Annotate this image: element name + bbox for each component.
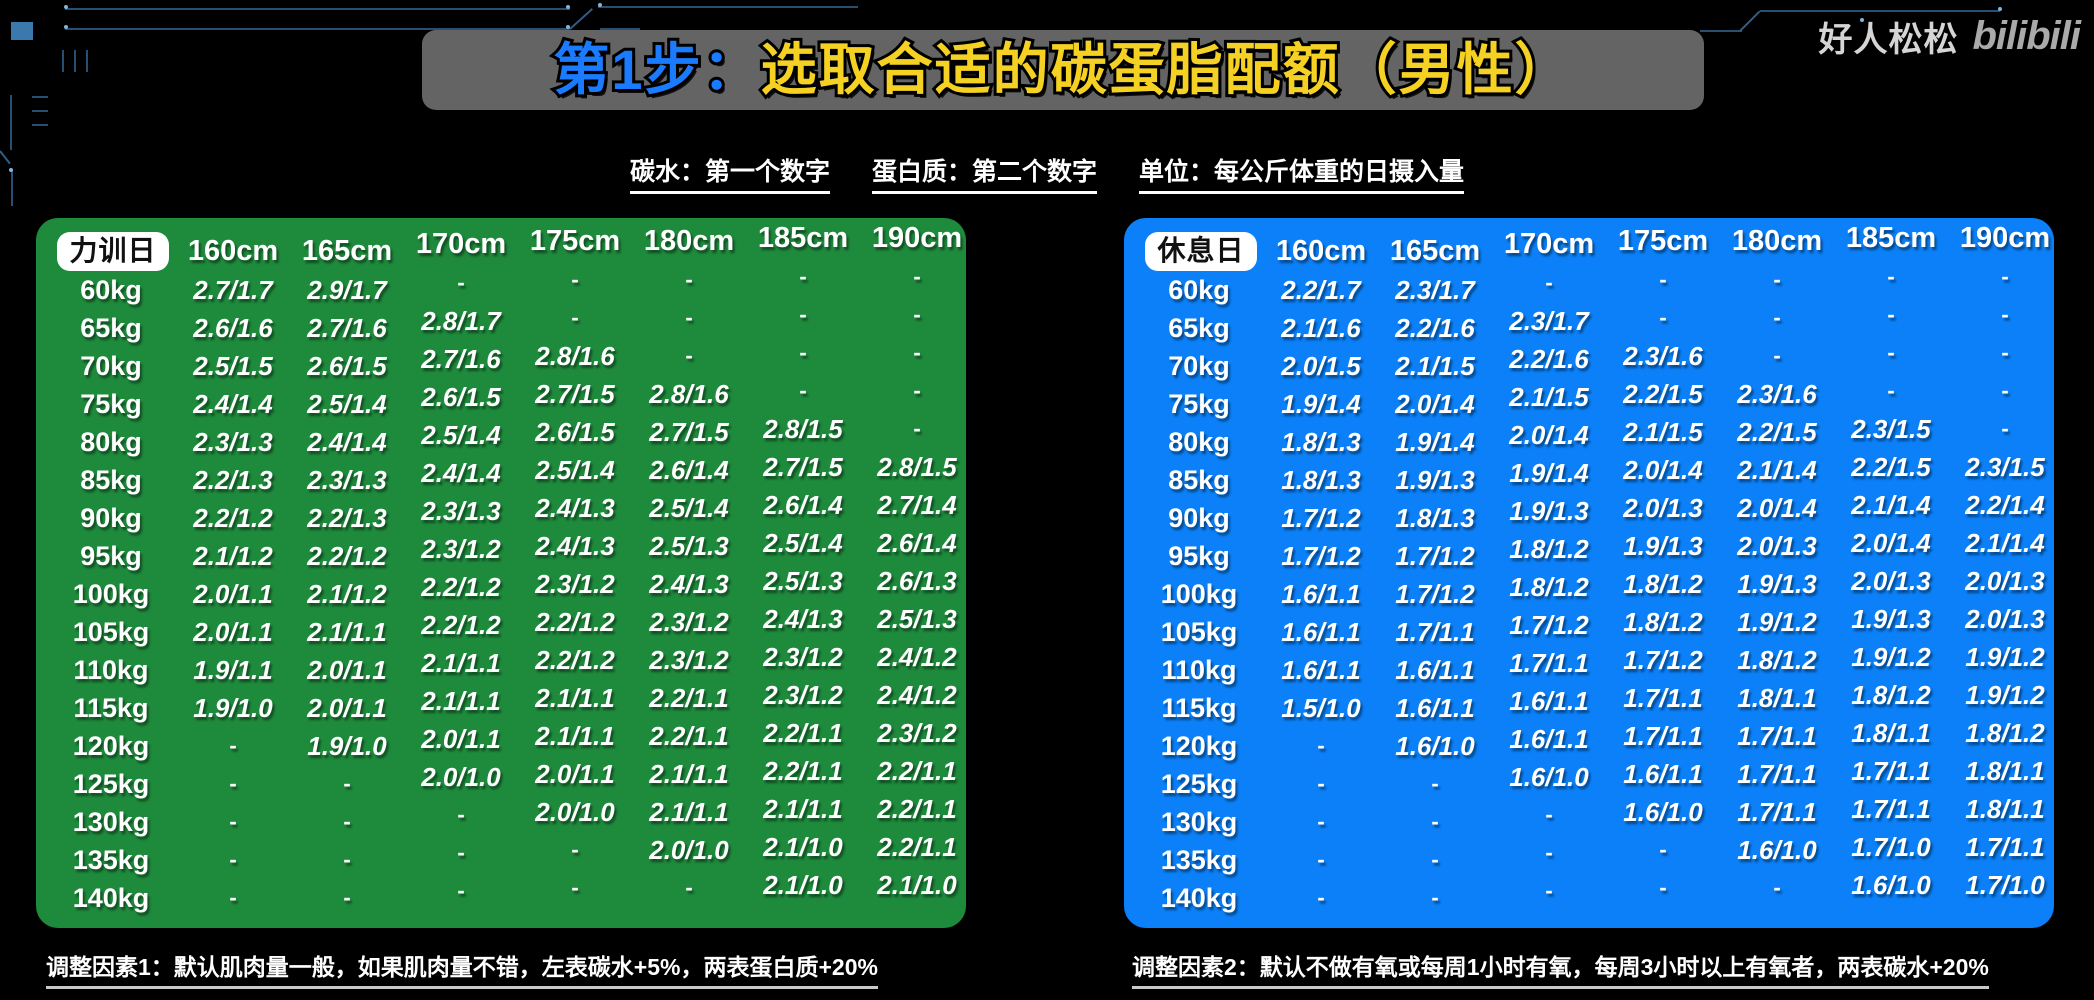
column-header-185cm: 185cm [746, 219, 860, 258]
data-cell: 2.1/1.1 [404, 682, 518, 720]
data-cell: 2.3/1.2 [746, 638, 860, 676]
row-label-140kg: 140kg [1134, 879, 1264, 917]
data-cell: 1.8/1.2 [1606, 603, 1720, 641]
data-cell: 1.7/1.2 [1606, 641, 1720, 679]
row-label-110kg: 110kg [1134, 651, 1264, 689]
data-cell: - [1834, 258, 1948, 296]
title-plate: 第1步：选取合适的碳蛋脂配额（男性） [422, 30, 1704, 110]
data-cell: 1.6/1.1 [1492, 720, 1606, 758]
data-cell: 2.3/1.2 [860, 714, 974, 752]
row-label-85kg: 85kg [1134, 461, 1264, 499]
data-cell: 1.6/1.1 [1378, 651, 1492, 689]
data-cell: 2.7/1.6 [404, 340, 518, 378]
data-cell: 2.0/1.5 [1264, 347, 1378, 385]
data-cell: 2.8/1.6 [518, 337, 632, 375]
row-label-115kg: 115kg [46, 689, 176, 727]
footer-note-1: 调整因素1：默认肌肉量一般，如果肌肉量不错，左表碳水+5%，两表蛋白质+20% [46, 948, 878, 989]
data-cell: 2.2/1.2 [290, 537, 404, 575]
data-cell: 2.1/1.5 [1606, 413, 1720, 451]
data-cell: 2.3/1.5 [1834, 410, 1948, 448]
data-cell: 2.1/1.2 [290, 575, 404, 613]
column-header-175cm: 175cm [1606, 222, 1720, 261]
column-header-165cm: 165cm [1378, 232, 1492, 271]
data-cell: 2.1/1.1 [746, 790, 860, 828]
data-cell: 2.0/1.1 [404, 720, 518, 758]
data-cell: 2.3/1.2 [632, 603, 746, 641]
data-cell: 1.7/1.1 [1606, 679, 1720, 717]
decor-dot-d [566, 25, 570, 29]
data-cell: 2.1/1.1 [404, 644, 518, 682]
data-cell: 1.7/1.0 [1948, 866, 2062, 904]
data-cell: 2.6/1.5 [290, 347, 404, 385]
data-cell: 1.9/1.0 [176, 689, 290, 727]
data-cell: - [290, 765, 404, 803]
data-cell: 1.5/1.0 [1264, 689, 1378, 727]
data-cell: 2.1/1.2 [176, 537, 290, 575]
data-cell: 2.5/1.4 [518, 451, 632, 489]
data-cell: - [1720, 299, 1834, 337]
data-cell: 1.6/1.0 [1720, 831, 1834, 869]
data-cell: 2.8/1.5 [860, 448, 974, 486]
data-cell: 2.1/1.1 [632, 755, 746, 793]
watermark: 好人松松 bilibili [1818, 12, 2080, 61]
data-cell: 1.7/1.1 [1720, 793, 1834, 831]
column-header-185cm: 185cm [1834, 219, 1948, 258]
data-cell: 2.2/1.1 [860, 828, 974, 866]
data-cell: - [1834, 372, 1948, 410]
data-cell: 1.6/1.0 [1378, 727, 1492, 765]
data-cell: 1.8/1.3 [1378, 499, 1492, 537]
data-cell: 1.9/1.2 [1948, 676, 2062, 714]
decor-diag-top [569, 8, 593, 30]
data-cell: 2.1/1.4 [1948, 524, 2062, 562]
data-cell: 1.7/1.0 [1834, 828, 1948, 866]
data-cell: 1.7/1.2 [1378, 575, 1492, 613]
subtitle-row: 碳水：第一个数字 蛋白质：第二个数字 单位：每公斤体重的日摄入量 [0, 152, 2094, 194]
data-cell: 2.7/1.4 [860, 486, 974, 524]
data-cell: 1.9/1.3 [1720, 565, 1834, 603]
data-cell: 2.2/1.5 [1834, 448, 1948, 486]
data-cell: 2.4/1.3 [746, 600, 860, 638]
data-cell: 2.2/1.1 [632, 717, 746, 755]
data-cell: 2.2/1.7 [1264, 271, 1378, 309]
data-cell: 2.3/1.5 [1948, 448, 2062, 486]
data-cell: 1.7/1.1 [1720, 755, 1834, 793]
data-cell: - [1264, 879, 1378, 917]
data-cell: - [860, 372, 974, 410]
data-cell: 2.0/1.1 [176, 575, 290, 613]
data-cell: 1.8/1.1 [1948, 790, 2062, 828]
data-cell: 2.6/1.3 [860, 562, 974, 600]
data-cell: 1.8/1.1 [1948, 752, 2062, 790]
data-cell: 2.5/1.4 [746, 524, 860, 562]
data-cell: - [1606, 831, 1720, 869]
data-cell: 2.8/1.7 [404, 302, 518, 340]
data-cell: 2.0/1.3 [1834, 562, 1948, 600]
data-cell: 1.9/1.4 [1264, 385, 1378, 423]
data-cell: - [1264, 765, 1378, 803]
data-cell: 1.7/1.1 [1378, 613, 1492, 651]
data-cell: 2.8/1.6 [632, 375, 746, 413]
title-main-text: 选取合适的碳蛋脂配额（男性） [761, 38, 1573, 101]
data-cell: 2.5/1.5 [176, 347, 290, 385]
data-cell: 1.6/1.1 [1264, 575, 1378, 613]
data-cell: - [1720, 337, 1834, 375]
data-cell: - [404, 872, 518, 910]
column-header-175cm: 175cm [518, 222, 632, 261]
data-cell: 2.6/1.4 [632, 451, 746, 489]
data-cell: - [1492, 796, 1606, 834]
subtitle-unit: 单位：每公斤体重的日摄入量 [1139, 152, 1464, 194]
data-cell: 2.4/1.3 [518, 489, 632, 527]
data-cell: 1.7/1.1 [1834, 752, 1948, 790]
data-cell: 2.2/1.1 [746, 714, 860, 752]
column-header-190cm: 190cm [1948, 219, 2062, 258]
decor-dot-b [566, 5, 570, 9]
row-label-60kg: 60kg [46, 271, 176, 309]
page-title: 第1步：选取合适的碳蛋脂配额（男性） [553, 42, 1572, 98]
data-cell: 2.2/1.2 [518, 641, 632, 679]
data-cell: - [746, 372, 860, 410]
row-label-100kg: 100kg [1134, 575, 1264, 613]
data-cell: - [1606, 299, 1720, 337]
data-cell: 2.0/1.4 [1378, 385, 1492, 423]
data-cell: 2.0/1.4 [1834, 524, 1948, 562]
data-cell: 1.7/1.1 [1834, 790, 1948, 828]
data-cell: 2.1/1.6 [1264, 309, 1378, 347]
data-cell: 2.6/1.4 [746, 486, 860, 524]
data-cell: 1.9/1.1 [176, 651, 290, 689]
data-cell: 2.0/1.1 [290, 651, 404, 689]
data-cell: - [176, 841, 290, 879]
data-cell: 1.7/1.2 [1378, 537, 1492, 575]
data-cell: 2.1/1.1 [518, 679, 632, 717]
data-cell: 1.9/1.3 [1492, 492, 1606, 530]
data-cell: 2.3/1.2 [404, 530, 518, 568]
data-cell: 1.7/1.2 [1264, 537, 1378, 575]
decor-dot-e [598, 3, 602, 7]
data-cell: 1.6/1.0 [1606, 793, 1720, 831]
data-cell: - [1948, 372, 2062, 410]
data-cell: - [290, 879, 404, 917]
data-cell: 2.3/1.6 [1720, 375, 1834, 413]
data-cell: 2.2/1.5 [1606, 375, 1720, 413]
data-cell: 2.5/1.3 [746, 562, 860, 600]
slide-root: 好人松松 bilibili 第1步：选取合适的碳蛋脂配额（男性） 碳水：第一个数… [0, 0, 2094, 1000]
column-header-180cm: 180cm [1720, 222, 1834, 261]
data-cell: - [176, 879, 290, 917]
table-badge-strength-day: 力训日 [57, 232, 168, 271]
row-label-85kg: 85kg [46, 461, 176, 499]
rest-day-table: 休息日160cm165cm170cm175cm180cm185cm190cm60… [1134, 232, 2062, 917]
data-cell: 2.4/1.4 [290, 423, 404, 461]
data-cell: - [518, 261, 632, 299]
row-label-80kg: 80kg [46, 423, 176, 461]
data-cell: - [290, 803, 404, 841]
data-cell: - [632, 337, 746, 375]
data-cell: 2.2/1.6 [1378, 309, 1492, 347]
data-cell: 2.5/1.4 [290, 385, 404, 423]
data-cell: 2.0/1.0 [632, 831, 746, 869]
data-cell: 2.3/1.3 [290, 461, 404, 499]
data-cell: 1.7/1.1 [1606, 717, 1720, 755]
row-label-125kg: 125kg [1134, 765, 1264, 803]
decor-vline-left [10, 95, 12, 150]
data-cell: 1.9/1.0 [290, 727, 404, 765]
data-cell: 1.8/1.1 [1834, 714, 1948, 752]
decor-bar-3 [32, 124, 48, 126]
data-cell: 1.6/1.0 [1492, 758, 1606, 796]
row-label-135kg: 135kg [46, 841, 176, 879]
data-cell: 2.2/1.1 [860, 790, 974, 828]
data-cell: 2.9/1.7 [290, 271, 404, 309]
data-cell: 2.7/1.7 [176, 271, 290, 309]
decor-blue-square [11, 22, 33, 40]
decor-bar-1 [32, 96, 48, 98]
table-badge-cell: 力训日 [46, 232, 176, 271]
data-cell: - [1948, 258, 2062, 296]
row-label-135kg: 135kg [1134, 841, 1264, 879]
data-cell: 2.1/1.4 [1834, 486, 1948, 524]
data-cell: - [632, 261, 746, 299]
column-header-170cm: 170cm [404, 225, 518, 264]
data-cell: 2.4/1.2 [860, 638, 974, 676]
data-cell: 2.3/1.7 [1378, 271, 1492, 309]
data-cell: - [1378, 879, 1492, 917]
data-cell: - [1492, 264, 1606, 302]
decor-bar-2 [32, 110, 48, 112]
data-cell: 2.4/1.3 [518, 527, 632, 565]
subtitle-protein: 蛋白质：第二个数字 [872, 152, 1097, 194]
data-cell: 1.8/1.2 [1492, 530, 1606, 568]
data-cell: 1.6/1.1 [1606, 755, 1720, 793]
decor-line-top-3 [598, 6, 858, 8]
row-label-120kg: 120kg [1134, 727, 1264, 765]
data-cell: 2.5/1.3 [632, 527, 746, 565]
data-cell: 2.3/1.3 [176, 423, 290, 461]
data-cell: 2.4/1.3 [632, 565, 746, 603]
data-cell: - [1834, 334, 1948, 372]
row-label-65kg: 65kg [46, 309, 176, 347]
data-cell: - [1834, 296, 1948, 334]
row-label-115kg: 115kg [1134, 689, 1264, 727]
data-cell: - [1264, 803, 1378, 841]
data-cell: 2.4/1.4 [176, 385, 290, 423]
strength-day-table: 力训日160cm165cm170cm175cm180cm185cm190cm60… [46, 232, 974, 917]
data-cell: 1.6/1.1 [1264, 613, 1378, 651]
data-cell: - [1492, 872, 1606, 910]
decor-line-top-1 [65, 8, 570, 10]
data-cell: 1.8/1.2 [1948, 714, 2062, 752]
data-cell: 2.0/1.3 [1948, 600, 2062, 638]
data-cell: - [1606, 869, 1720, 907]
data-cell: - [1378, 765, 1492, 803]
table-row[interactable]: 140kg-----1.6/1.01.7/1.0 [1134, 879, 2062, 917]
data-cell: 2.1/1.0 [746, 866, 860, 904]
data-cell: - [1948, 296, 2062, 334]
data-cell: - [746, 296, 860, 334]
data-cell: 2.1/1.0 [746, 828, 860, 866]
data-cell: - [1720, 869, 1834, 907]
data-cell: 2.2/1.5 [1720, 413, 1834, 451]
data-cell: 2.1/1.1 [632, 793, 746, 831]
data-cell: 1.7/1.2 [1264, 499, 1378, 537]
row-label-130kg: 130kg [46, 803, 176, 841]
data-cell: 2.2/1.2 [404, 568, 518, 606]
data-cell: - [404, 834, 518, 872]
data-cell: - [404, 264, 518, 302]
row-label-130kg: 130kg [1134, 803, 1264, 841]
column-header-160cm: 160cm [176, 232, 290, 271]
table-badge-rest-day: 休息日 [1145, 232, 1256, 271]
data-cell: - [1720, 261, 1834, 299]
decor-diag-right [1739, 10, 1760, 31]
data-cell: 2.0/1.1 [518, 755, 632, 793]
row-label-70kg: 70kg [1134, 347, 1264, 385]
data-cell: - [518, 869, 632, 907]
data-cell: 1.8/1.2 [1720, 641, 1834, 679]
data-cell: - [1606, 261, 1720, 299]
data-cell: 2.2/1.2 [518, 603, 632, 641]
data-cell: 2.3/1.3 [404, 492, 518, 530]
data-cell: - [518, 831, 632, 869]
data-cell: 2.0/1.3 [1720, 527, 1834, 565]
data-cell: - [1492, 834, 1606, 872]
data-cell: 2.8/1.5 [746, 410, 860, 448]
data-cell: 2.2/1.1 [860, 752, 974, 790]
data-cell: 2.7/1.6 [290, 309, 404, 347]
data-cell: 2.4/1.4 [404, 454, 518, 492]
data-cell: 1.9/1.3 [1378, 461, 1492, 499]
row-label-140kg: 140kg [46, 879, 176, 917]
row-label-110kg: 110kg [46, 651, 176, 689]
data-cell: - [1378, 841, 1492, 879]
row-label-80kg: 80kg [1134, 423, 1264, 461]
data-cell: - [290, 841, 404, 879]
data-cell: 2.6/1.6 [176, 309, 290, 347]
data-cell: - [404, 796, 518, 834]
data-cell: - [746, 334, 860, 372]
footer-note-2: 调整因素2：默认不做有氧或每周1小时有氧，每周3小时以上有氧者，两表碳水+20% [1132, 948, 1989, 989]
data-cell: 1.6/1.1 [1492, 682, 1606, 720]
data-cell: 2.3/1.2 [632, 641, 746, 679]
data-cell: 2.2/1.4 [1948, 486, 2062, 524]
data-cell: 2.0/1.0 [518, 793, 632, 831]
data-cell: 2.1/1.4 [1720, 451, 1834, 489]
data-cell: - [1948, 410, 2062, 448]
data-cell: 1.8/1.2 [1492, 568, 1606, 606]
data-cell: 1.8/1.3 [1264, 461, 1378, 499]
decor-dot-c [64, 25, 68, 29]
subtitle-carbs: 碳水：第一个数字 [630, 152, 830, 194]
decor-line-right-2 [1700, 30, 1742, 32]
data-cell: - [746, 258, 860, 296]
data-cell: - [1948, 334, 2062, 372]
data-cell: 2.0/1.4 [1606, 451, 1720, 489]
decor-tick-1 [62, 50, 64, 72]
row-label-125kg: 125kg [46, 765, 176, 803]
data-cell: 2.0/1.4 [1720, 489, 1834, 527]
bilibili-logo-icon: bilibili [1972, 14, 2080, 59]
data-cell: 2.2/1.2 [404, 606, 518, 644]
column-header-165cm: 165cm [290, 232, 404, 271]
data-cell: 2.6/1.5 [404, 378, 518, 416]
data-cell: 2.2/1.2 [176, 499, 290, 537]
data-cell: 1.8/1.1 [1720, 679, 1834, 717]
data-cell: 2.0/1.3 [1606, 489, 1720, 527]
data-cell: - [1264, 727, 1378, 765]
row-label-75kg: 75kg [46, 385, 176, 423]
row-label-90kg: 90kg [46, 499, 176, 537]
data-cell: 1.9/1.4 [1378, 423, 1492, 461]
data-cell: 1.8/1.3 [1264, 423, 1378, 461]
data-cell: - [518, 299, 632, 337]
data-cell: 2.4/1.2 [860, 676, 974, 714]
strength-day-table-card: 力训日160cm165cm170cm175cm180cm185cm190cm60… [36, 218, 966, 928]
data-cell: 1.7/1.1 [1492, 644, 1606, 682]
data-cell: 2.3/1.2 [746, 676, 860, 714]
data-cell: 1.8/1.2 [1606, 565, 1720, 603]
data-cell: - [176, 803, 290, 841]
column-header-190cm: 190cm [860, 219, 974, 258]
table-row[interactable]: 140kg-----2.1/1.02.1/1.0 [46, 879, 974, 917]
data-cell: 2.3/1.7 [1492, 302, 1606, 340]
data-cell: - [632, 299, 746, 337]
row-label-95kg: 95kg [46, 537, 176, 575]
data-cell: 1.7/1.1 [1720, 717, 1834, 755]
data-cell: 2.5/1.4 [632, 489, 746, 527]
row-label-70kg: 70kg [46, 347, 176, 385]
data-cell: 1.6/1.0 [1834, 866, 1948, 904]
column-header-160cm: 160cm [1264, 232, 1378, 271]
data-cell: - [176, 727, 290, 765]
data-cell: 2.6/1.4 [860, 524, 974, 562]
data-cell: 2.0/1.0 [404, 758, 518, 796]
data-cell: 1.9/1.3 [1834, 600, 1948, 638]
data-cell: 2.7/1.5 [518, 375, 632, 413]
data-cell: 1.9/1.3 [1606, 527, 1720, 565]
data-cell: 1.9/1.2 [1834, 638, 1948, 676]
data-cell: 1.9/1.4 [1492, 454, 1606, 492]
data-cell: 2.1/1.5 [1378, 347, 1492, 385]
data-cell: 2.1/1.1 [290, 613, 404, 651]
column-header-170cm: 170cm [1492, 225, 1606, 264]
decor-dot-a [64, 5, 68, 9]
data-cell: 1.6/1.1 [1264, 651, 1378, 689]
row-label-120kg: 120kg [46, 727, 176, 765]
data-cell: - [176, 765, 290, 803]
data-cell: 1.7/1.2 [1492, 606, 1606, 644]
data-cell: 1.7/1.1 [1948, 828, 2062, 866]
data-cell: 2.5/1.4 [404, 416, 518, 454]
data-cell: 2.2/1.6 [1492, 340, 1606, 378]
data-cell: 2.2/1.3 [290, 499, 404, 537]
column-header-180cm: 180cm [632, 222, 746, 261]
decor-tick-3 [86, 50, 88, 72]
data-cell: 2.0/1.1 [290, 689, 404, 727]
data-cell: 1.9/1.2 [1948, 638, 2062, 676]
data-cell: 2.0/1.3 [1948, 562, 2062, 600]
rest-day-table-card: 休息日160cm165cm170cm175cm180cm185cm190cm60… [1124, 218, 2054, 928]
title-step-prefix: 第1步： [553, 38, 760, 101]
data-cell: 1.8/1.2 [1834, 676, 1948, 714]
row-label-65kg: 65kg [1134, 309, 1264, 347]
data-cell: 2.6/1.5 [518, 413, 632, 451]
data-cell: - [860, 334, 974, 372]
data-cell: - [1378, 803, 1492, 841]
table-badge-cell: 休息日 [1134, 232, 1264, 271]
data-cell: 2.2/1.1 [746, 752, 860, 790]
